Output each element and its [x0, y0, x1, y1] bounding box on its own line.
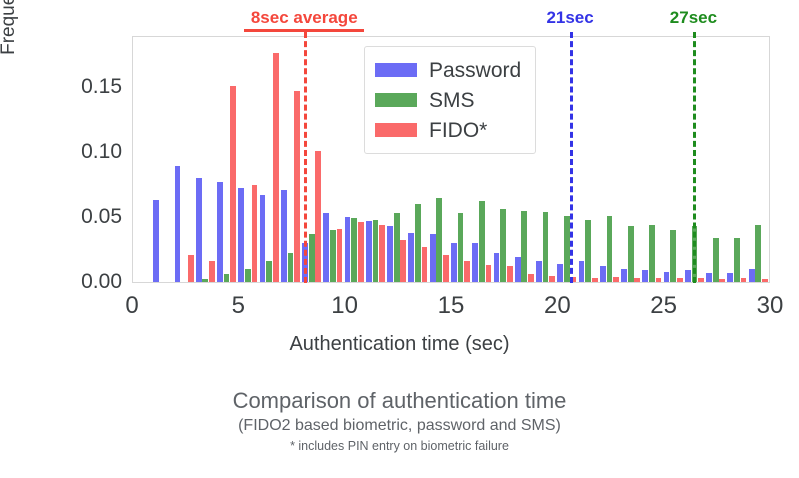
bar-password-12 — [408, 233, 414, 282]
bar-password-27 — [727, 273, 733, 282]
chart-legend: PasswordSMSFIDO* — [364, 46, 536, 154]
bar-fido-3 — [230, 86, 236, 282]
x-tick-label-10: 10 — [315, 292, 375, 320]
bar-fido-28 — [762, 279, 768, 282]
caption-subtitle: (FIDO2 based biometric, password and SMS… — [0, 417, 799, 435]
legend-item-password-swatch — [375, 63, 417, 77]
bar-sms-22 — [628, 226, 634, 282]
bar-password-4 — [238, 188, 244, 282]
bar-sms-6 — [288, 253, 294, 282]
marker-27sec-line — [693, 32, 696, 283]
marker-8sec-average-line — [304, 32, 307, 283]
bar-fido-5 — [273, 53, 279, 282]
y-tick-label-0.15: 0.15 — [40, 75, 122, 99]
bar-password-16 — [494, 253, 500, 282]
bar-password-6 — [281, 190, 287, 282]
bar-fido-2 — [209, 261, 215, 282]
marker-8sec-average-underline — [244, 29, 364, 32]
bar-sms-17 — [521, 211, 527, 283]
legend-item-fido[interactable]: FIDO* — [375, 115, 521, 145]
chart-caption: Comparison of authentication time (FIDO2… — [0, 388, 799, 453]
x-tick-label-5: 5 — [208, 292, 268, 320]
bar-fido-1 — [188, 255, 194, 282]
bar-fido-9 — [358, 222, 364, 282]
bar-sms-13 — [436, 198, 442, 283]
bar-fido-23 — [656, 278, 662, 282]
bar-password-13 — [430, 234, 436, 282]
caption-footnote: * includes PIN entry on biometric failur… — [0, 439, 799, 453]
bar-fido-26 — [719, 279, 725, 282]
bar-password-28 — [749, 269, 755, 282]
x-tick-label-25: 25 — [634, 292, 694, 320]
bar-fido-24 — [677, 278, 683, 282]
x-tick-label-20: 20 — [527, 292, 587, 320]
bar-sms-26 — [713, 238, 719, 282]
bar-password-1 — [175, 166, 181, 282]
bar-fido-25 — [698, 278, 704, 282]
bar-fido-18 — [549, 276, 555, 283]
x-tick-label-30: 30 — [740, 292, 799, 320]
bar-password-10 — [366, 221, 372, 282]
bar-sms-14 — [458, 213, 464, 282]
bar-sms-24 — [670, 230, 676, 282]
bar-password-14 — [451, 243, 457, 282]
legend-item-password[interactable]: Password — [375, 55, 521, 85]
bar-password-18 — [536, 261, 542, 282]
legend-item-sms[interactable]: SMS — [375, 85, 521, 115]
bar-password-8 — [323, 213, 329, 282]
bar-sms-19 — [564, 216, 570, 282]
bar-fido-8 — [337, 229, 343, 282]
caption-title: Comparison of authentication time — [0, 388, 799, 414]
bar-sms-8 — [330, 230, 336, 282]
y-axis-label: Frequency — [0, 0, 20, 100]
bar-sms-28 — [755, 225, 761, 282]
bar-password-5 — [260, 195, 266, 282]
bar-password-20 — [579, 261, 585, 282]
marker-21sec-label: 21sec — [546, 8, 593, 28]
legend-item-sms-swatch — [375, 93, 417, 107]
bar-fido-13 — [443, 255, 449, 282]
legend-item-fido-label: FIDO* — [429, 120, 487, 141]
bar-password-15 — [472, 243, 478, 282]
bar-fido-10 — [379, 225, 385, 282]
bar-password-0 — [153, 200, 159, 282]
marker-8sec-average-label: 8sec average — [251, 8, 358, 28]
bar-sms-2 — [202, 279, 208, 282]
legend-item-password-label: Password — [429, 60, 521, 81]
bar-password-19 — [557, 264, 563, 282]
bar-sms-7 — [309, 234, 315, 282]
bar-password-23 — [642, 270, 648, 282]
bar-fido-21 — [613, 277, 619, 282]
marker-21sec-line — [570, 32, 573, 283]
bar-sms-18 — [543, 212, 549, 282]
bar-sms-20 — [585, 220, 591, 282]
legend-item-sms-label: SMS — [429, 90, 475, 111]
bar-fido-27 — [741, 278, 747, 282]
bar-fido-12 — [422, 247, 428, 282]
bar-fido-4 — [252, 185, 258, 283]
bar-password-9 — [345, 217, 351, 282]
bar-sms-21 — [607, 216, 613, 282]
bar-sms-27 — [734, 238, 740, 282]
bar-sms-10 — [373, 220, 379, 282]
bar-password-11 — [387, 226, 393, 282]
x-axis-label: Authentication time (sec) — [0, 333, 799, 356]
bar-password-21 — [600, 266, 606, 282]
legend-item-fido-swatch — [375, 123, 417, 137]
bar-fido-11 — [400, 240, 406, 282]
bar-fido-6 — [294, 91, 300, 282]
bar-fido-15 — [486, 265, 492, 282]
marker-27sec-label: 27sec — [670, 8, 717, 28]
bar-sms-23 — [649, 225, 655, 282]
y-tick-label-0.10: 0.10 — [40, 140, 122, 164]
bar-fido-22 — [634, 278, 640, 282]
bar-sms-5 — [266, 261, 272, 282]
bar-fido-17 — [528, 274, 534, 282]
bar-fido-20 — [592, 278, 598, 282]
bar-password-24 — [664, 272, 670, 282]
bar-sms-11 — [394, 213, 400, 282]
bar-password-26 — [706, 273, 712, 282]
bar-sms-4 — [245, 269, 251, 282]
x-tick-label-15: 15 — [421, 292, 481, 320]
bar-sms-15 — [479, 201, 485, 282]
bar-sms-3 — [224, 274, 230, 282]
bar-sms-9 — [351, 218, 357, 282]
bar-sms-12 — [415, 204, 421, 282]
y-tick-label-0.05: 0.05 — [40, 205, 122, 229]
bar-password-25 — [685, 270, 691, 282]
y-tick-label-0.00: 0.00 — [40, 270, 122, 294]
chart-figure: Frequency 0.000.050.100.15 8sec average2… — [0, 0, 799, 478]
bar-password-17 — [515, 257, 521, 282]
x-tick-label-0: 0 — [102, 292, 162, 320]
bar-fido-16 — [507, 266, 513, 282]
bar-password-2 — [196, 178, 202, 282]
bar-password-22 — [621, 269, 627, 282]
bar-sms-16 — [500, 209, 506, 282]
bar-password-3 — [217, 182, 223, 282]
bar-fido-7 — [315, 151, 321, 282]
bar-fido-14 — [464, 261, 470, 282]
